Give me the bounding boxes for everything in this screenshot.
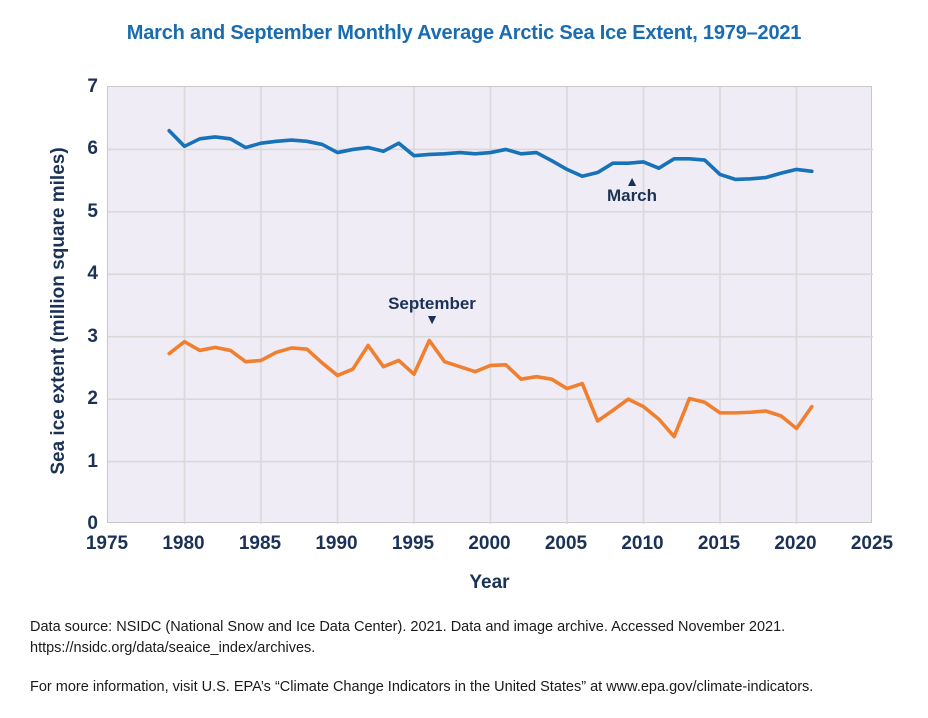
x-tick-label: 1980 bbox=[144, 534, 224, 553]
y-tick-label: 2 bbox=[58, 389, 98, 408]
x-tick-label: 2025 bbox=[832, 534, 912, 553]
y-tick-label: 0 bbox=[58, 514, 98, 533]
x-tick-label: 1995 bbox=[373, 534, 453, 553]
footer-spacer bbox=[30, 659, 910, 677]
x-tick-label: 2020 bbox=[756, 534, 836, 553]
x-axis-label: Year bbox=[107, 572, 872, 594]
source-line-1: Data source: NSIDC (National Snow and Ic… bbox=[30, 619, 785, 635]
x-axis-tick-labels: 1975198019851990199520002005201020152020… bbox=[107, 534, 872, 560]
more-information-note: For more information, visit U.S. EPA’s “… bbox=[30, 677, 910, 698]
page-title: March and September Monthly Average Arct… bbox=[0, 22, 928, 45]
y-tick-label: 3 bbox=[58, 327, 98, 346]
source-url: https://nsidc.org/data/seaice_index/arch… bbox=[30, 638, 910, 659]
x-tick-label: 2005 bbox=[526, 534, 606, 553]
x-tick-label: 1975 bbox=[67, 534, 147, 553]
footer: Data source: NSIDC (National Snow and Ic… bbox=[30, 617, 910, 698]
x-tick-label: 2010 bbox=[603, 534, 683, 553]
y-tick-label: 7 bbox=[58, 77, 98, 96]
plot-svg bbox=[108, 87, 873, 524]
y-axis-tick-labels: 76543210 bbox=[50, 86, 98, 523]
y-tick-label: 1 bbox=[58, 452, 98, 471]
data-source-note: Data source: NSIDC (National Snow and Ic… bbox=[30, 617, 910, 659]
x-tick-label: 1985 bbox=[220, 534, 300, 553]
plot-area bbox=[107, 86, 872, 523]
y-tick-label: 5 bbox=[58, 202, 98, 221]
y-tick-label: 4 bbox=[58, 264, 98, 283]
x-tick-label: 2000 bbox=[450, 534, 530, 553]
chart-figure: March and September Monthly Average Arct… bbox=[0, 0, 928, 718]
y-tick-label: 6 bbox=[58, 139, 98, 158]
x-tick-label: 1990 bbox=[297, 534, 377, 553]
x-tick-label: 2015 bbox=[679, 534, 759, 553]
